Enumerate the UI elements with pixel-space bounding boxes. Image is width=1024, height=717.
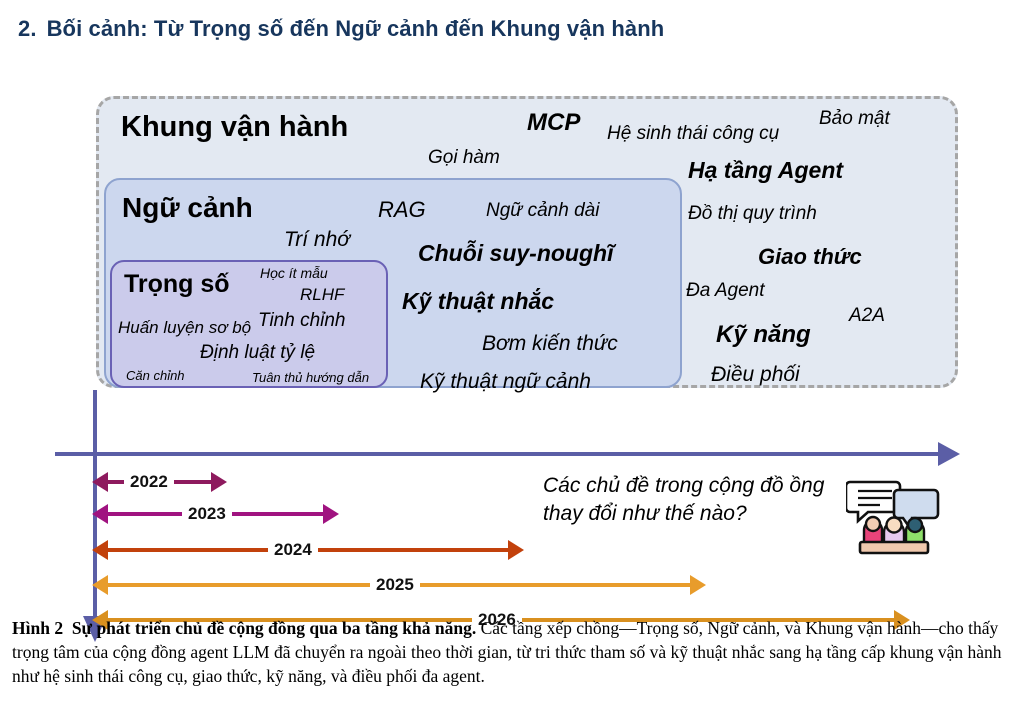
year-arrow-2022: 2022 [92, 470, 227, 494]
year-label-2025: 2025 [370, 573, 420, 597]
year-arrow-2025: 2025 [92, 573, 706, 597]
year-arrow-2023: 2023 [92, 502, 339, 526]
term-orchestration: Điều phối [711, 363, 800, 387]
year-arrow-2022-right-head [211, 472, 227, 492]
figure-caption: Hình 2 Sự phát triển chủ đề cộng đồng qu… [12, 616, 1014, 688]
year-arrow-2024-right-head [508, 540, 524, 560]
question-annotation: Các chủ đề trong cộng đồ ồng thay đổi nh… [543, 472, 853, 529]
community-discussion-icon [846, 476, 942, 558]
caption-label: Hình 2 [12, 618, 63, 638]
layer-weights: Trọng số Học ít mẫu RLHF Tinh chỉnh Huấn… [110, 260, 388, 388]
year-label-2024: 2024 [268, 538, 318, 562]
term-agent-infrastructure: Hạ tầng Agent [688, 157, 843, 184]
year-label-2023: 2023 [182, 502, 232, 526]
term-tool-ecosystem: Hệ sinh thái công cụ [607, 123, 779, 145]
term-security: Bảo mật [819, 108, 890, 130]
term-multi-agent: Đa Agent [686, 280, 765, 302]
layer-operational-title: Khung vận hành [121, 111, 348, 144]
term-fine-tuning: Tinh chỉnh [258, 310, 346, 332]
term-long-context: Ngữ cảnh dài [486, 200, 599, 222]
term-few-shot: Học ít mẫu [260, 265, 328, 281]
term-chain-of-thought: Chuỗi suy-noughĩ [418, 240, 613, 267]
page-title: 2.Bối cảnh: Từ Trọng số đến Ngữ cảnh đến… [18, 16, 998, 42]
term-scaling-laws: Định luật tỷ lệ [200, 342, 315, 364]
page-title-number: 2. [18, 16, 37, 41]
year-arrow-2023-right-head [323, 504, 339, 524]
year-arrow-2025-right-head [690, 575, 706, 595]
term-mcp: MCP [527, 109, 580, 137]
timeline-horizontal-axis-arrowhead [938, 442, 960, 466]
term-a2a: A2A [849, 305, 885, 327]
term-function-calling: Gọi hàm [428, 147, 500, 169]
layer-context-title: Ngữ cảnh [122, 192, 253, 224]
term-skills: Kỹ năng [716, 321, 811, 349]
term-memory: Trí nhớ [284, 228, 350, 252]
term-pretraining: Huấn luyện sơ bộ [118, 318, 251, 338]
year-label-2022: 2022 [124, 470, 174, 494]
year-arrow-2024: 2024 [92, 538, 524, 562]
term-rag: RAG [378, 197, 426, 223]
term-context-engineering: Kỹ thuật ngữ cảnh [420, 370, 591, 394]
figure-diagram: Khung vận hành MCP Hệ sinh thái công cụ … [0, 60, 1024, 605]
timeline-horizontal-axis [55, 452, 945, 456]
term-instruction-following: Tuân thủ hướng dẫn [252, 370, 369, 385]
layer-weights-title: Trọng số [124, 270, 230, 299]
term-prompt-engineering: Kỹ thuật nhắc [402, 288, 554, 315]
term-alignment: Căn chỉnh [126, 368, 185, 383]
page-title-text: Bối cảnh: Từ Trọng số đến Ngữ cảnh đến K… [47, 16, 665, 41]
caption-title: Sự phát triển chủ đề cộng đồng qua ba tầ… [72, 618, 476, 638]
term-protocol: Giao thức [758, 244, 862, 270]
term-workflow-graph: Đồ thị quy trình [688, 203, 817, 225]
term-knowledge-injection: Bơm kiến thức [482, 332, 618, 356]
term-rlhf: RLHF [300, 285, 344, 305]
